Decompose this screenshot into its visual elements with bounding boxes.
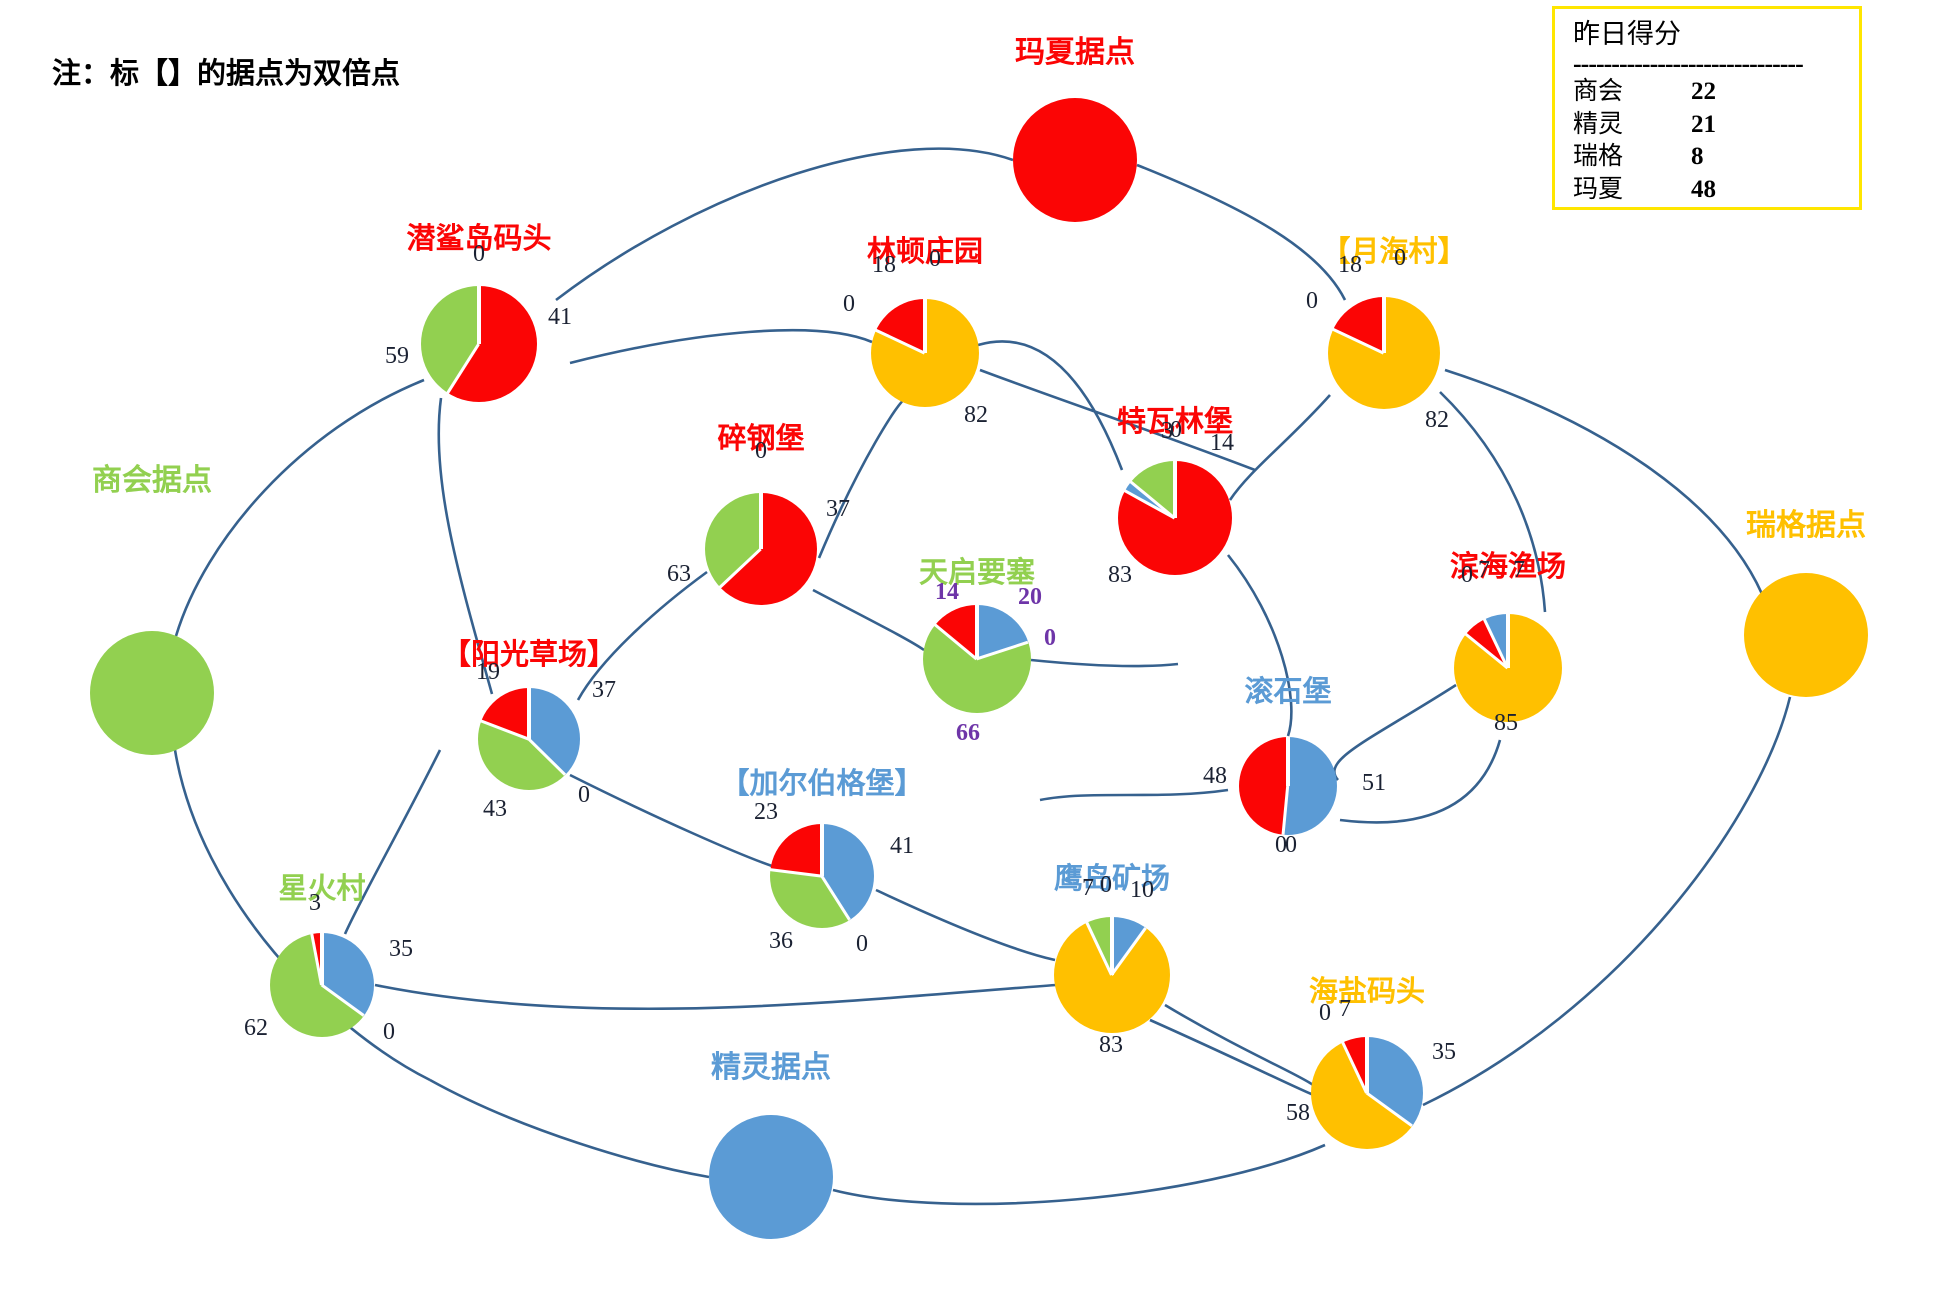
pie-slice-separator bbox=[1286, 737, 1289, 786]
pie-slice-separator bbox=[759, 493, 762, 549]
pie-value-label: 0 bbox=[1010, 625, 1090, 652]
pie-value-label: 37 bbox=[564, 677, 644, 704]
pie-slice-separator bbox=[1173, 461, 1176, 518]
legend-faction-score: 8 bbox=[1691, 141, 1704, 174]
legend-divider: ------------------------------ bbox=[1573, 51, 1859, 73]
pie-value-label: 43 bbox=[455, 796, 535, 823]
base-label-shanghui: 商会据点 bbox=[12, 455, 292, 499]
pie-value-label: 23 bbox=[726, 799, 806, 826]
territory-label-gunshi: 滚石堡 bbox=[1108, 668, 1468, 710]
pie-value-label: 41 bbox=[862, 833, 942, 860]
pie-slice-separator bbox=[1382, 297, 1385, 353]
legend-faction-name: 商会 bbox=[1573, 76, 1691, 109]
map-edge bbox=[375, 985, 1056, 1009]
legend-row: 瑞格 8 bbox=[1573, 141, 1859, 174]
pie-value-label: 0 bbox=[349, 1019, 429, 1046]
map-edge bbox=[570, 330, 872, 363]
pie-value-label: 83 bbox=[1071, 1032, 1151, 1059]
pie-value-label: 0 bbox=[822, 931, 902, 958]
pie-value-label: 0 bbox=[544, 782, 624, 809]
pie-value-label: 3 bbox=[275, 890, 355, 917]
map-canvas: 注：标【】的据点为双倍点 昨日得分 ----------------------… bbox=[0, 0, 1942, 1294]
base-disc-shanghui[interactable] bbox=[90, 631, 214, 755]
legend-faction-name: 瑞格 bbox=[1573, 141, 1691, 174]
map-edge bbox=[430, 1080, 709, 1177]
base-disc-maxia[interactable] bbox=[1013, 98, 1137, 222]
legend-row: 商会 22 bbox=[1573, 76, 1859, 109]
pie-value-label: 0 bbox=[1272, 288, 1352, 315]
pie-slice-separator bbox=[1110, 917, 1113, 975]
map-edge bbox=[1150, 1020, 1316, 1096]
base-disc-jingling[interactable] bbox=[709, 1115, 833, 1239]
pie-slice-separator bbox=[1506, 614, 1509, 668]
pie-value-label: 0 bbox=[721, 438, 801, 465]
legend-faction-name: 玛夏 bbox=[1573, 174, 1691, 207]
legend-faction-name: 精灵 bbox=[1573, 109, 1691, 142]
pie-value-label: 41 bbox=[520, 304, 600, 331]
double-point-note: 注：标【】的据点为双倍点 bbox=[52, 50, 400, 92]
legend-faction-score: 48 bbox=[1691, 174, 1716, 207]
pie-value-label: 82 bbox=[1397, 407, 1477, 434]
base-label-jingling: 精灵据点 bbox=[631, 1042, 911, 1086]
pie-slice-separator bbox=[923, 299, 926, 353]
base-disc-ruige[interactable] bbox=[1744, 573, 1868, 697]
pie-value-label: 59 bbox=[357, 343, 437, 370]
map-edge bbox=[176, 380, 424, 636]
map-edge bbox=[876, 890, 1055, 960]
pie-slice-separator bbox=[975, 605, 978, 659]
territory-label-yangguang: 【阳光草场】 bbox=[349, 631, 709, 673]
base-label-maxia: 玛夏据点 bbox=[935, 27, 1215, 71]
pie-value-label: 62 bbox=[216, 1015, 296, 1042]
pie-slice-separator bbox=[527, 688, 530, 739]
pie-value-label: 85 bbox=[1466, 710, 1546, 737]
pie-slice-separator bbox=[477, 286, 480, 344]
pie-slice-separator bbox=[820, 824, 823, 876]
base-label-ruige: 瑞格据点 bbox=[1666, 500, 1942, 544]
map-edge bbox=[833, 1145, 1325, 1204]
pie-value-label: 14 bbox=[1182, 430, 1262, 457]
pie-value-label: 0 bbox=[1360, 245, 1440, 272]
legend-title: 昨日得分 bbox=[1573, 19, 1859, 50]
pie-value-label: 0 bbox=[809, 291, 889, 318]
pie-value-label: 35 bbox=[361, 936, 441, 963]
legend-faction-score: 22 bbox=[1691, 76, 1716, 109]
pie-value-label: 0 bbox=[439, 241, 519, 268]
map-edge bbox=[1031, 660, 1178, 666]
legend-row: 玛夏 48 bbox=[1573, 174, 1859, 207]
pie-value-label: 20 bbox=[990, 584, 1070, 611]
pie-value-label: 37 bbox=[798, 496, 878, 523]
score-legend: 昨日得分 ------------------------------ 商会 2… bbox=[1552, 6, 1862, 210]
legend-faction-score: 21 bbox=[1691, 109, 1716, 142]
pie-value-label: 58 bbox=[1258, 1100, 1338, 1127]
pie-value-label: 66 bbox=[928, 720, 1008, 747]
pie-value-label: 14 bbox=[907, 579, 987, 606]
pie-value-label: 7 bbox=[1305, 996, 1385, 1023]
pie-value-label: 51 bbox=[1334, 770, 1414, 797]
pie-value-label: 0 bbox=[895, 246, 975, 273]
territory-label-jiaerbo: 【加尔伯格堡】 bbox=[642, 760, 1002, 802]
pie-value-label: 10 bbox=[1102, 877, 1182, 904]
pie-value-label: 19 bbox=[448, 659, 528, 686]
map-edge bbox=[1040, 790, 1228, 800]
legend-row: 精灵 21 bbox=[1573, 109, 1859, 142]
pie-value-label: 35 bbox=[1404, 1039, 1484, 1066]
pie-value-label: 63 bbox=[639, 561, 719, 588]
pie-value-label: 7 bbox=[1479, 557, 1559, 584]
pie-slice-separator bbox=[1365, 1037, 1368, 1093]
pie-value-label: 36 bbox=[741, 928, 821, 955]
pie-value-label: 48 bbox=[1175, 763, 1255, 790]
